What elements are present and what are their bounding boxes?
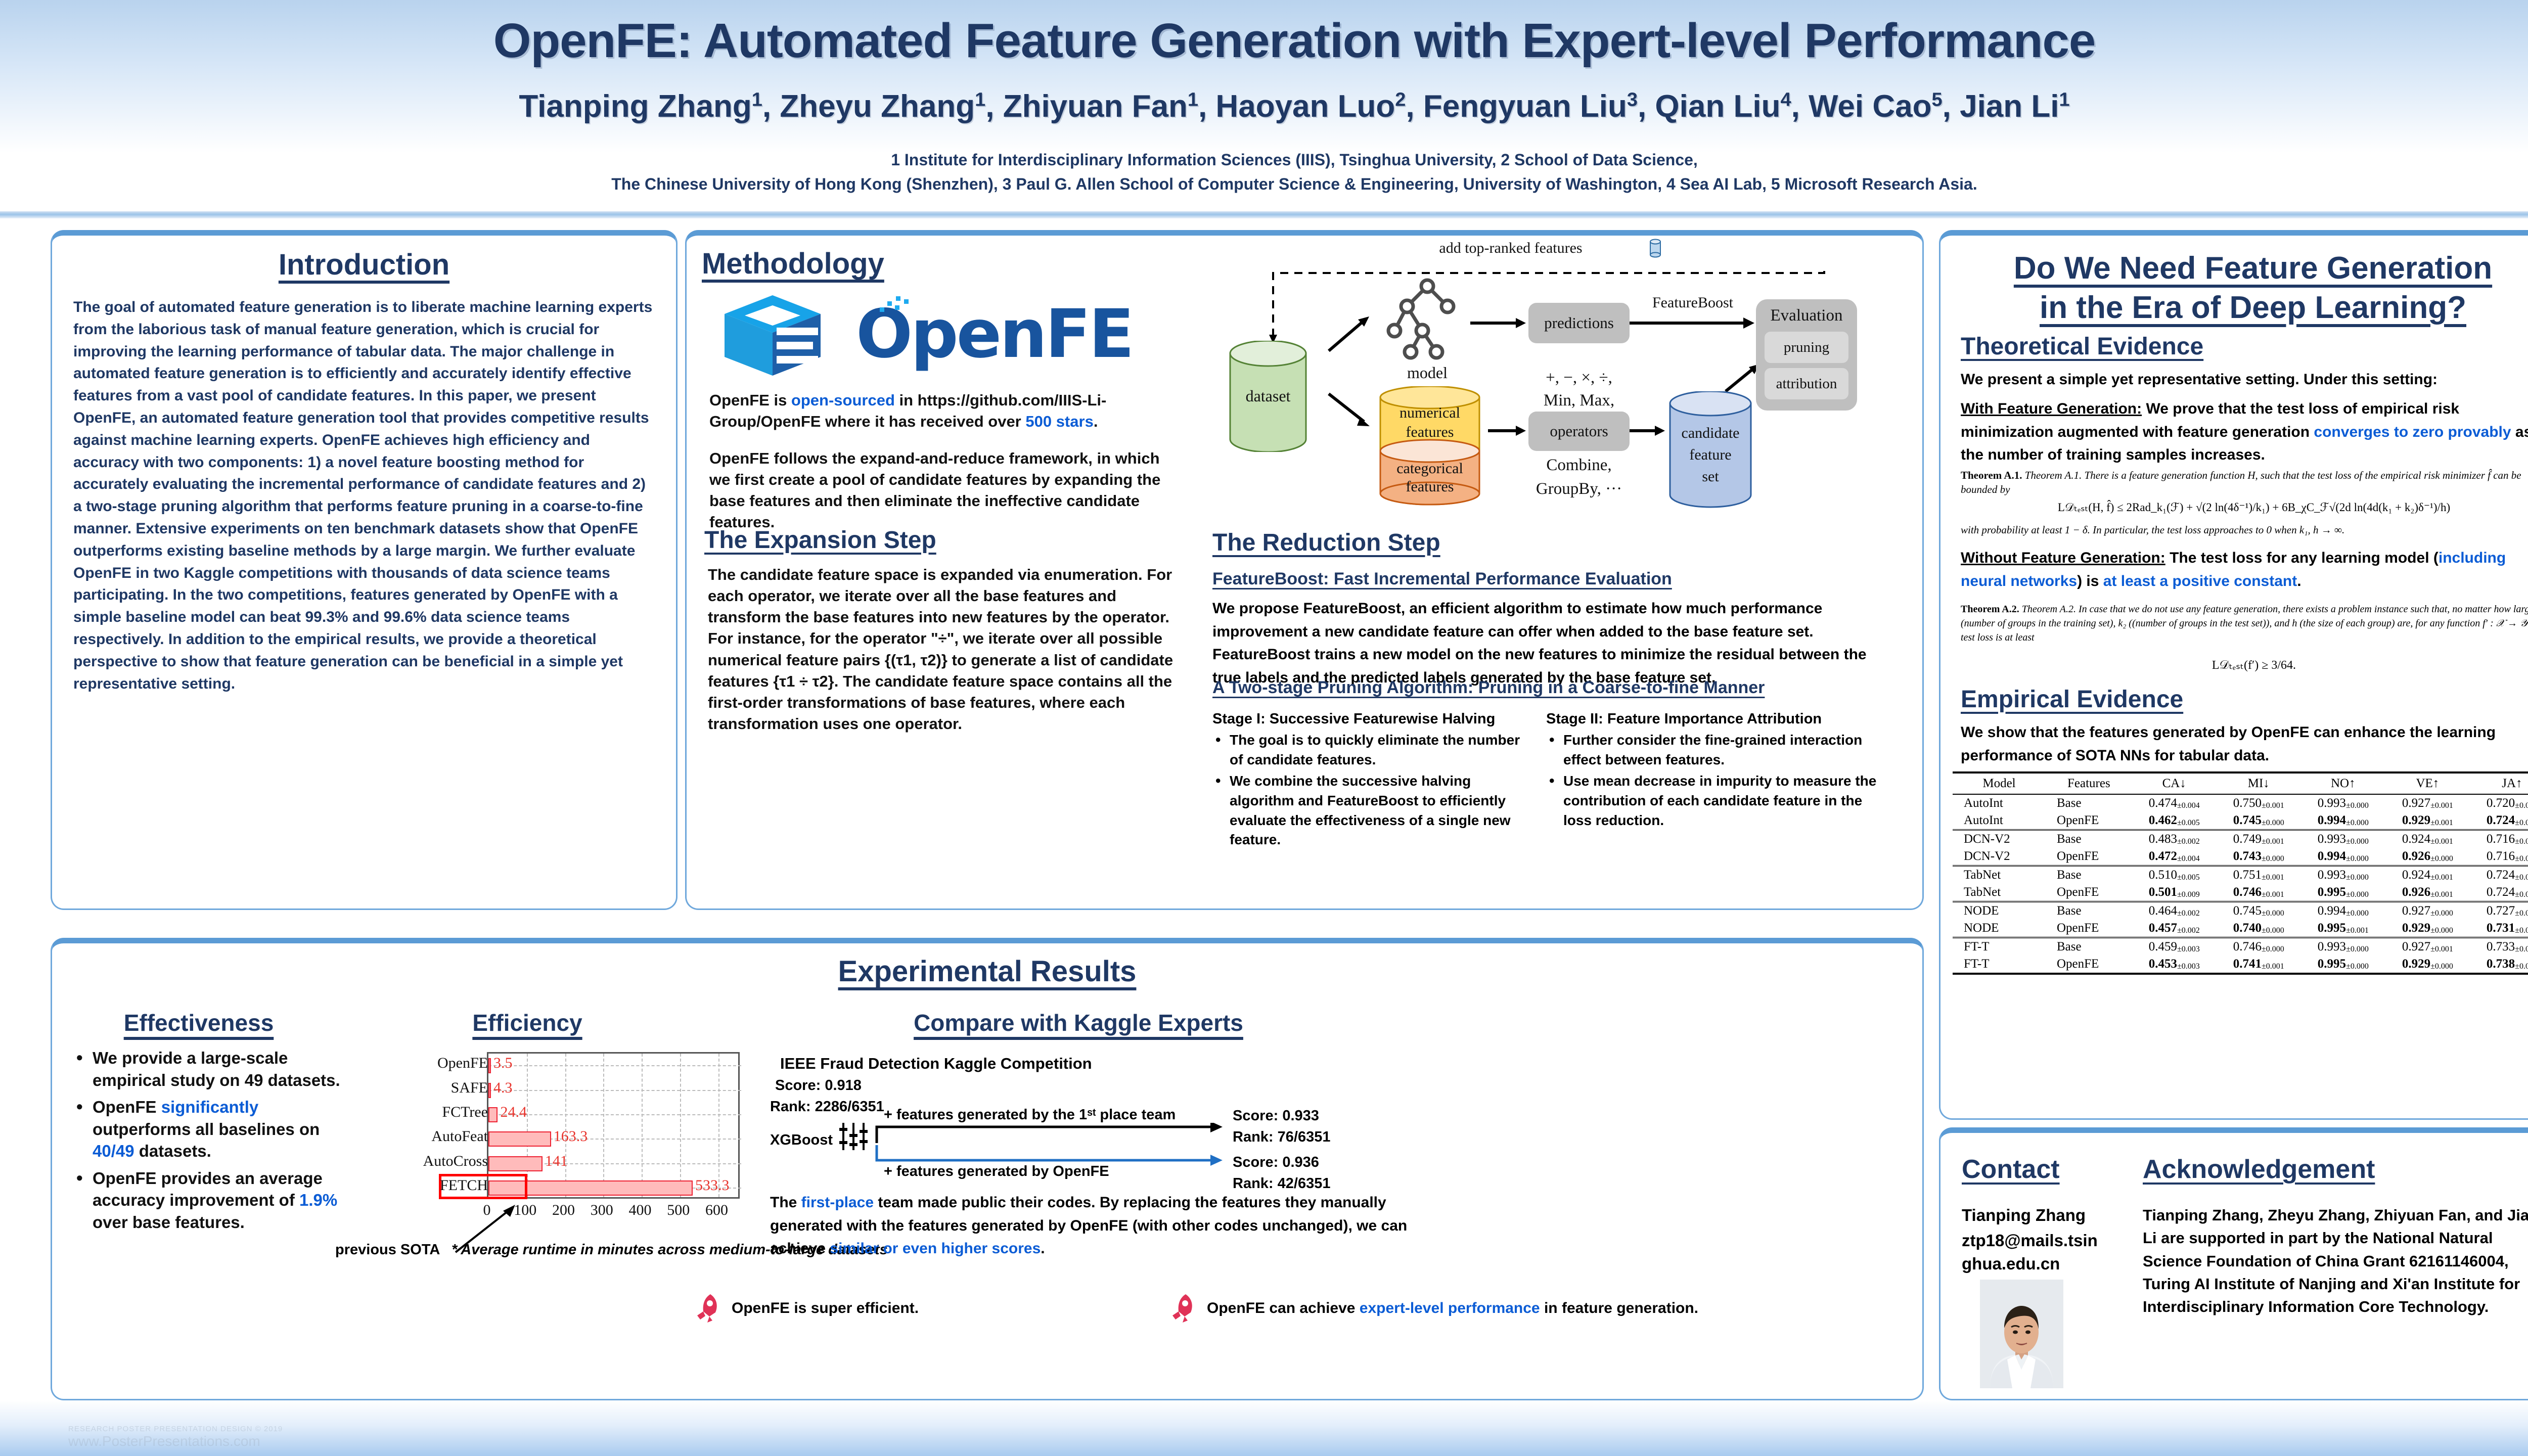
chart-baseline-dash [488,1065,741,1066]
cell-metric-0: 0.462±0.005 [2132,812,2217,830]
reduction-step-heading: The Reduction Step [1212,529,1440,557]
cell-features: OpenFE [2046,812,2132,830]
table-row: FT-TOpenFE0.453±0.0030.741±0.0010.995±0.… [1953,955,2528,974]
svg-text:set: set [1702,468,1719,485]
pruning-algorithm-heading: A Two-stage Pruning Algorithm: Pruning i… [1212,678,1765,698]
featureboost-heading: FeatureBoost: Fast Incremental Performan… [1212,569,1672,589]
eff-b1-pre: OpenFE [93,1098,161,1116]
cell-metric-0: 0.464±0.002 [2132,902,2217,920]
experimental-results-panel: Experimental Results Effectiveness We pr… [51,938,1924,1400]
table-row: NODEOpenFE0.457±0.0020.740±0.0000.995±0.… [1953,920,2528,938]
table-row: TabNetBase0.510±0.0050.751±0.0010.993±0.… [1953,866,2528,884]
methodology-framework-text: OpenFE follows the expand-and-reduce fra… [709,448,1164,533]
chart-category-label-autofeat: AutoFeat [397,1128,488,1145]
stage-1-bullets: The goal is to quickly eliminate the num… [1212,731,1536,850]
rk2-pre: OpenFE can achieve [1207,1300,1360,1316]
diagram-operators-line2: Min, Max, [1526,391,1632,410]
efficiency-bar-chart: 01002003004005006003.5OpenFE4.3SAFE24.4F… [426,1052,745,1229]
cell-metric-2: 0.995±0.001 [2301,920,2385,938]
theory-heading-line-2: in the Era of Deep Learning? [1950,288,2528,328]
cell-model: FT-T [1953,938,2046,956]
contact-email-line-1[interactable]: ztp18@mails.tsin [1962,1229,2124,1252]
eff-b1-post2: datasets. [134,1142,211,1160]
kaggle-note-text: The first-place team made public their c… [770,1191,1427,1260]
chart-gridline [718,1054,719,1197]
cell-metric-3: 0.924±0.001 [2385,830,2470,848]
cell-metric-4: 0.731±0.001 [2470,920,2528,938]
cell-model: NODE [1953,902,2046,920]
cell-metric-0: 0.459±0.003 [2132,938,2217,956]
contact-name: Tianping Zhang [1962,1204,2118,1227]
efficiency-takeaway-text: OpenFE is super efficient. [732,1300,919,1317]
theorem-a2-text: Theorem A.2. In case that we do not use … [1961,604,2528,643]
cell-metric-0: 0.457±0.002 [2132,920,2217,938]
chart-xtick-label: 600 [705,1202,728,1219]
theory-heading: Do We Need Feature Generation in the Era… [1950,249,2528,327]
svg-text:feature: feature [1689,446,1731,463]
chart-bar-openfe [488,1058,491,1073]
table-col-header-1: Features [2046,772,2132,794]
with-fg-highlight: converges to zero provably [2314,424,2511,440]
cell-features: OpenFE [2046,884,2132,902]
cell-metric-2: 0.993±0.000 [2301,830,2385,848]
candidate-feature-set-cylinder: candidate feature set [1665,391,1756,513]
methodology-heading: Methodology [702,247,1187,281]
chart-bar-row [488,1156,741,1171]
kaggle-takeaway-text: OpenFE can achieve expert-level performa… [1207,1300,1698,1317]
stage-1-block: Stage I: Successive Featurewise Halving … [1212,711,1536,852]
table-row: AutoIntOpenFE0.462±0.0050.745±0.0000.994… [1953,812,2528,830]
effectiveness-bullets: We provide a large-scale empirical study… [72,1047,345,1238]
svg-text:features: features [1406,424,1454,440]
kaggle-branch1-label: + features generated by the 1ˢᵗ place te… [884,1107,1176,1123]
cell-model: NODE [1953,920,2046,938]
table-body: AutoIntBase0.474±0.0040.750±0.0010.993±0… [1953,794,2528,974]
chart-bar-row [488,1131,741,1147]
cell-model: TabNet [1953,866,2046,884]
featureboost-body: We propose FeatureBoost, an efficient al… [1212,597,1890,689]
table-header-row: ModelFeaturesCA↓MI↓NO↑VE↑JA↑ [1953,772,2528,794]
cell-features: Base [2046,866,2132,884]
chart-xtick-label: 500 [667,1202,690,1219]
eff-b2-post: over base features. [93,1213,245,1232]
cell-features: Base [2046,938,2132,956]
footer-background [0,1400,2528,1456]
cell-metric-1: 0.745±0.000 [2217,812,2301,830]
cell-metric-0: 0.472±0.004 [2132,848,2217,866]
cell-metric-0: 0.510±0.005 [2132,866,2217,884]
chart-category-label-safe: SAFE [397,1079,488,1097]
cell-features: Base [2046,794,2132,812]
kaggle-branch1-score: Score: 0.933 [1233,1108,1319,1124]
cell-features: OpenFE [2046,920,2132,938]
cell-metric-1: 0.746±0.001 [2217,884,2301,902]
without-fg-label: Without Feature Generation: [1961,550,2165,566]
cell-features: Base [2046,902,2132,920]
cell-model: AutoInt [1953,812,2046,830]
cell-metric-0: 0.474±0.004 [2132,794,2217,812]
table-row: DCN-V2Base0.483±0.0020.749±0.0010.993±0.… [1953,830,2528,848]
cell-metric-2: 0.995±0.000 [2301,884,2385,902]
features-cylinders: numerical features categorical features [1374,386,1491,510]
cell-metric-2: 0.993±0.000 [2301,938,2385,956]
kaggle-base-rank: Rank: 2286/6351 [770,1099,884,1115]
chart-bar-row [488,1058,741,1073]
table-col-header-5: VE↑ [2385,772,2470,794]
theory-intro-text: We present a simple yet representative s… [1961,368,2528,391]
table-row: NODEBase0.464±0.0020.745±0.0000.994±0.00… [1953,902,2528,920]
chart-category-label-fetch: FETCH [397,1177,488,1194]
cell-metric-2: 0.994±0.000 [2301,812,2385,830]
openfe-logo-dots [879,294,924,317]
portrait-photo [1980,1280,2063,1388]
cell-metric-1: 0.745±0.000 [2217,902,2301,920]
eff-b1-post: outperforms all baselines on [93,1120,320,1139]
chart-bar-value-label: 4.3 [493,1079,513,1097]
eff-b1-hl: significantly [161,1098,259,1116]
theory-panel: Do We Need Feature Generation in the Era… [1939,230,2528,1120]
without-fg-end: . [2297,573,2301,589]
cell-metric-3: 0.927±0.001 [2385,938,2470,956]
diagram-model-label: model [1384,363,1470,382]
cell-metric-2: 0.994±0.000 [2301,848,2385,866]
theorem-a2-statement: Theorem A.2. Theorem A.2. In case that w… [1961,602,2528,645]
results-table-wrapper: ModelFeaturesCA↓MI↓NO↑VE↑JA↑ AutoIntBase… [1953,771,2528,975]
chart-bar-safe [488,1083,491,1098]
diagram-operators-line1: +, −, ×, ÷, [1526,369,1632,387]
cell-metric-4: 0.720±0.002 [2470,794,2528,812]
kaggle-branch1-rank: Rank: 76/6351 [1233,1129,1330,1146]
author-list: Tianping Zhang1, Zheyu Zhang1, Zhiyuan F… [0,88,2528,124]
list-item: OpenFE provides an average accuracy impr… [72,1167,345,1234]
cell-metric-4: 0.727±0.002 [2470,902,2528,920]
table-row: DCN-V2OpenFE0.472±0.0040.743±0.0000.994±… [1953,848,2528,866]
svg-text:dataset: dataset [1246,387,1291,405]
page-title: OpenFE: Automated Feature Generation wit… [0,13,2528,69]
chart-bar-value-label: 163.3 [554,1128,588,1145]
cell-metric-2: 0.994±0.000 [2301,902,2385,920]
svg-text:features: features [1406,478,1454,495]
chart-gridline [603,1054,604,1197]
eff-b2-hl: 1.9% [299,1191,337,1209]
eff-b2-pre: OpenFE provides an average accuracy impr… [93,1169,323,1210]
cell-metric-3: 0.926±0.000 [2385,848,2470,866]
sliders-icon [838,1121,869,1152]
theorem-a1-equation: L𝒟ₜₑₛₜ(H, f̂) ≤ 2Rad_k₁(ℱ) + √(2 ln(4δ⁻¹… [1961,501,2528,514]
chart-xtick-label: 200 [552,1202,575,1219]
kaggle-branch2-rank: Rank: 42/6351 [1233,1175,1330,1192]
list-item: We provide a large-scale empirical study… [72,1047,345,1091]
cell-metric-4: 0.716±0.002 [2470,830,2528,848]
cell-metric-3: 0.929±0.001 [2385,812,2470,830]
table-col-header-0: Model [1953,772,2046,794]
list-item: We combine the successive halving algori… [1212,771,1536,850]
rk2-hl: expert-level performance [1360,1300,1540,1316]
cell-metric-0: 0.501±0.009 [2132,884,2217,902]
open-sourced-link[interactable]: open-sourced [791,391,895,409]
previous-sota-label: previous SOTA [335,1242,440,1258]
empirical-evidence-body: We show that the features generated by O… [1961,721,2528,767]
openfe-logo: OpenFE [717,291,1132,380]
introduction-body-text: The goal of automated feature generation… [73,296,655,695]
chart-baseline-dash [488,1090,741,1091]
cell-metric-1: 0.740±0.000 [2217,920,2301,938]
cell-metric-3: 0.927±0.001 [2385,794,2470,812]
eff-b0-text: We provide a large-scale empirical study… [93,1049,340,1089]
stage-1-title: Stage I: Successive Featurewise Halving [1212,711,1536,727]
meth-p1-end: . [1094,413,1098,430]
chart-gridline [680,1054,681,1197]
cell-metric-3: 0.929±0.000 [2385,955,2470,974]
table-col-header-2: CA↓ [2132,772,2217,794]
expansion-step-body: The candidate feature space is expanded … [708,564,1178,735]
chart-xtick-label: 300 [591,1202,613,1219]
chart-category-label-openfe: OpenFE [397,1055,488,1072]
dataset-cylinder: dataset [1225,341,1314,452]
cell-metric-4: 0.724±0.004 [2470,884,2528,902]
kaggle-competition-name: IEEE Fraud Detection Kaggle Competition [780,1055,1092,1073]
cell-metric-3: 0.927±0.000 [2385,902,2470,920]
chart-bar-value-label: 533.3 [695,1177,730,1194]
diagram-operators-box: operators [1528,412,1630,451]
chart-category-label-autocross: AutoCross [397,1153,488,1170]
stars-count: 500 stars [1025,413,1093,430]
decision-tree-icon [1384,275,1470,363]
kag-note-hl: first-place [801,1194,874,1211]
svg-text:numerical: numerical [1400,404,1460,421]
chart-xtick-label: 100 [514,1202,536,1219]
without-fg-pre: The test loss for any learning model ( [2165,550,2439,566]
without-fg-highlight-2: at least a positive constant [2103,573,2297,589]
with-feature-generation-text: With Feature Generation: We prove that t… [1961,397,2528,467]
cell-model: FT-T [1953,955,2046,974]
kaggle-flow-diagram: Score: 0.918 Rank: 2286/6351 XGBoost + f… [770,1077,1437,1178]
chart-gridline [565,1054,566,1197]
openfe-cube-icon [717,291,843,380]
without-fg-mid: ) is [2077,573,2103,589]
kaggle-branch-arrows [874,1123,1238,1168]
theorem-a1-statement: Theorem A.1. Theorem A.1. There is a fea… [1961,468,2528,497]
table-col-header-4: NO↑ [2301,772,2385,794]
contact-email-line-2[interactable]: ghua.edu.cn [1962,1252,2124,1276]
cell-features: OpenFE [2046,848,2132,866]
svg-text:categorical: categorical [1396,460,1463,477]
cell-metric-2: 0.993±0.000 [2301,866,2385,884]
affiliation-line-2: The Chinese University of Hong Kong (She… [0,172,2528,196]
watermark-line-1: RESEARCH POSTER PRESENTATION DESIGN © 20… [68,1425,283,1433]
list-item: Use mean decrease in impurity to measure… [1546,771,1890,830]
avatar [1980,1280,2063,1388]
contact-heading: Contact [1962,1154,2060,1185]
stage-2-block: Stage II: Feature Importance Attribution… [1546,711,1890,832]
kaggle-branch2-score: Score: 0.936 [1233,1154,1319,1171]
table-row: TabNetOpenFE0.501±0.0090.746±0.0010.995±… [1953,884,2528,902]
list-item: OpenFE significantly outperforms all bas… [72,1096,345,1162]
cell-metric-2: 0.995±0.000 [2301,955,2385,974]
cell-model: TabNet [1953,884,2046,902]
efficiency-heading: Efficiency [350,1009,704,1036]
theorem-a2-equation: L𝒟ₜₑₛₜ(f′) ≥ 3/64. [1961,658,2528,672]
chart-xtick-label: 0 [483,1202,491,1219]
cell-metric-4: 0.738±0.002 [2470,955,2528,974]
list-item: Further consider the fine-grained intera… [1546,731,1890,769]
results-table: ModelFeaturesCA↓MI↓NO↑VE↑JA↑ AutoIntBase… [1953,771,2528,975]
chart-gridline [642,1054,643,1197]
kaggle-heading: Compare with Kaggle Experts [755,1009,1402,1036]
cell-metric-4: 0.716±0.001 [2470,848,2528,866]
chart-bar-value-label: 141 [545,1153,568,1170]
cell-metric-1: 0.743±0.000 [2217,848,2301,866]
kag-note-end: . [1041,1240,1045,1257]
introduction-panel: Introduction The goal of automated featu… [51,230,678,910]
openfe-pipeline-diagram: add top-ranked features [1202,240,1910,515]
diagram-operators-line4: GroupBy, ··· [1526,480,1632,498]
header-divider-rule [0,211,2528,218]
acknowledgement-body: Tianping Zhang, Zheyu Zhang, Zhiyuan Fan… [2143,1204,2528,1318]
cell-metric-3: 0.924±0.001 [2385,866,2470,884]
cell-metric-4: 0.733±0.002 [2470,938,2528,956]
empirical-evidence-heading: Empirical Evidence [1961,686,2183,713]
svg-text:candidate: candidate [1682,425,1740,441]
kag-note-hl2: similar or even higher scores [830,1240,1041,1257]
diagram-featureboost-label: FeatureBoost [1635,294,1751,311]
kaggle-base-score: Score: 0.918 [775,1077,862,1094]
with-fg-label: With Feature Generation: [1961,400,2142,417]
chart-bar-value-label: 3.5 [493,1055,513,1072]
methodology-panel: Methodology OpenFE OpenFE is open-source… [685,230,1924,910]
list-item: The goal is to quickly eliminate the num… [1212,731,1536,769]
table-row: AutoIntBase0.474±0.0040.750±0.0010.993±0… [1953,794,2528,812]
affiliation-line-1: 1 Institute for Interdisciplinary Inform… [0,148,2528,172]
theoretical-evidence-heading: Theoretical Evidence [1961,333,2203,360]
chart-xtick-label: 400 [629,1202,652,1219]
theory-heading-line-1: Do We Need Feature Generation [1950,249,2528,288]
table-row: FT-TBase0.459±0.0030.746±0.0000.993±0.00… [1953,938,2528,956]
cell-metric-1: 0.746±0.000 [2217,938,2301,956]
meth-p1-pre: OpenFE is [709,391,791,409]
rocket-icon [694,1292,721,1325]
acknowledgement-heading: Acknowledgement [2143,1154,2375,1185]
cell-model: DCN-V2 [1953,830,2046,848]
kag-note-pre: The [770,1194,801,1211]
cell-metric-1: 0.749±0.001 [2217,830,2301,848]
effectiveness-heading: Effectiveness [57,1009,340,1036]
efficiency-takeaway-row: OpenFE is super efficient. [694,1292,919,1325]
chart-bar-autocross [488,1156,543,1171]
diagram-operators-line3: Combine, [1526,456,1632,475]
watermark-line-2: www.PosterPresentations.com [68,1433,283,1449]
cell-metric-2: 0.993±0.000 [2301,794,2385,812]
cell-metric-1: 0.750±0.001 [2217,794,2301,812]
cell-metric-4: 0.724±0.003 [2470,812,2528,830]
experimental-results-heading: Experimental Results [52,954,1922,988]
cell-metric-1: 0.751±0.001 [2217,866,2301,884]
chart-bar-value-label: 24.4 [500,1104,527,1121]
diagram-pruning-box: pruning [1765,332,1848,363]
expansion-step-heading: The Expansion Step [704,526,936,554]
cell-features: OpenFE [2046,955,2132,974]
rk2-post: in feature generation. [1540,1300,1698,1316]
chart-bar-autofeat [488,1131,551,1147]
cell-metric-0: 0.453±0.003 [2132,955,2217,974]
table-col-header-3: MI↓ [2217,772,2301,794]
cell-metric-3: 0.926±0.001 [2385,884,2470,902]
poster-template-watermark: RESEARCH POSTER PRESENTATION DESIGN © 20… [68,1425,283,1449]
chart-category-label-fctree: FCTree [397,1104,488,1121]
theorem-a1-text: Theorem A.1. There is a feature generati… [1961,469,2521,495]
cell-metric-3: 0.929±0.000 [2385,920,2470,938]
cell-metric-1: 0.741±0.001 [2217,955,2301,974]
contact-email: ztp18@mails.tsin ghua.edu.cn [1962,1229,2124,1276]
stage-2-title: Stage II: Feature Importance Attribution [1546,711,1890,727]
stage-2-bullets: Further consider the fine-grained intera… [1546,731,1890,830]
cell-features: Base [2046,830,2132,848]
cell-model: AutoInt [1953,794,2046,812]
kaggle-takeaway-row: OpenFE can achieve expert-level performa… [1169,1292,1698,1325]
eff-b1-hl2: 40/49 [93,1142,134,1160]
chart-bar-row [488,1083,741,1098]
without-feature-generation-text: Without Feature Generation: The test los… [1961,547,2528,593]
diagram-predictions-box: predictions [1528,303,1630,343]
contact-panel: Contact Acknowledgement Tianping Zhang z… [1939,1127,2528,1400]
theorem-a1-probability-note: with probability at least 1 − δ. In part… [1961,524,2528,536]
rocket-icon [1169,1292,1197,1325]
diagram-attribution-box: attribution [1765,368,1848,399]
kaggle-model-label: XGBoost [770,1132,833,1149]
cell-model: DCN-V2 [1953,848,2046,866]
chart-bar-fctree [488,1107,498,1122]
table-col-header-6: JA↑ [2470,772,2528,794]
methodology-opensource-text: OpenFE is open-sourced in https://github… [709,390,1164,432]
introduction-heading: Introduction [52,248,676,282]
cell-metric-0: 0.483±0.002 [2132,830,2217,848]
cell-metric-4: 0.724±0.004 [2470,866,2528,884]
